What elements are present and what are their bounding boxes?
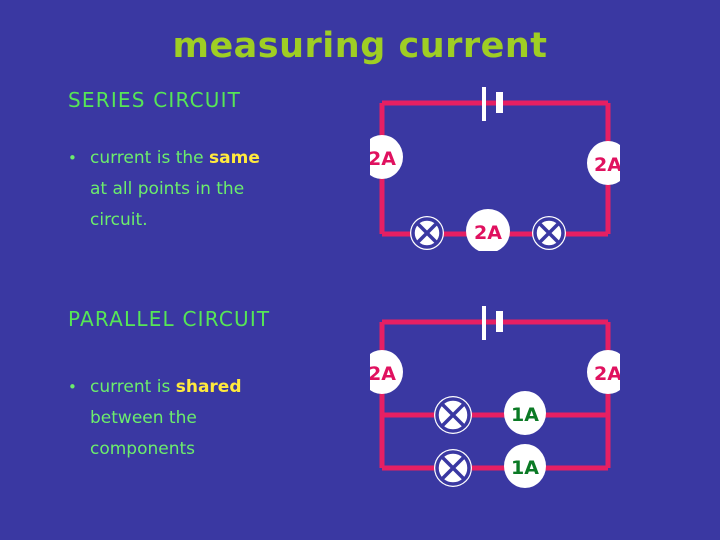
bullet-parallel-circuit: • current is sharedbetween thecomponents [68,372,344,465]
ammeter-series-bottom: 2A [466,209,510,251]
ammeter-bottom-label: 2A [474,222,502,244]
bullet-series-line2: at all points in the [90,179,244,199]
ammeter-right-label: 2A [594,154,620,176]
ammeter-branch-lower-label: 1A [511,457,539,479]
diagram-series-circuit: 2A 2A 2A [370,86,620,251]
bullet-series-highlight: same [209,148,260,168]
ammeter-left-label: 2A [370,363,396,385]
parallel-wire-loop [382,322,608,468]
heading-parallel-circuit: PARALLEL CIRCUIT [68,307,270,331]
ammeter-parallel-right: 2A [587,350,620,394]
bullet-parallel-line3: components [90,439,195,459]
heading-series-circuit: SERIES CIRCUIT [68,88,241,112]
bullet-series-circuit: • current is the sameat all points in th… [68,143,344,236]
page-title: measuring current [0,26,720,66]
ammeter-branch-lower: 1A [504,444,546,488]
lamp-icon [410,216,444,250]
battery-short-plate [496,92,503,113]
ammeter-parallel-left: 2A [370,350,403,394]
lamp-icon [434,449,472,487]
bullet-parallel-line1-lead: current is [90,377,176,397]
bullet-series-line1-lead: current is the [90,148,209,168]
ammeter-series-left: 2A [370,135,403,179]
bullet-series-text: current is the sameat all points in thec… [90,143,344,236]
lamp-icon [434,396,472,434]
parallel-circuit-svg: 2A 2A 1A 1A [370,305,620,495]
ammeter-branch-upper: 1A [504,391,546,435]
ammeter-right-label: 2A [594,363,620,385]
ammeter-left-label: 2A [370,148,396,170]
battery-long-plate [482,306,486,340]
bullet-series-line3: circuit. [90,210,148,230]
ammeter-branch-upper-label: 1A [511,404,539,426]
bullet-parallel-text: current is sharedbetween thecomponents [90,372,344,465]
lamp-icon [532,216,566,250]
series-circuit-svg: 2A 2A 2A [370,86,620,251]
slide-canvas: measuring current SERIES CIRCUIT • curre… [0,0,720,540]
battery-short-plate [496,311,503,332]
bullet-marker-icon: • [68,372,77,403]
bullet-parallel-line2: between the [90,408,197,428]
bullet-marker-icon: • [68,143,77,174]
diagram-parallel-circuit: 2A 2A 1A 1A [370,305,620,495]
ammeter-series-right: 2A [587,141,620,185]
battery-long-plate [482,87,486,121]
bullet-parallel-highlight: shared [176,377,242,397]
